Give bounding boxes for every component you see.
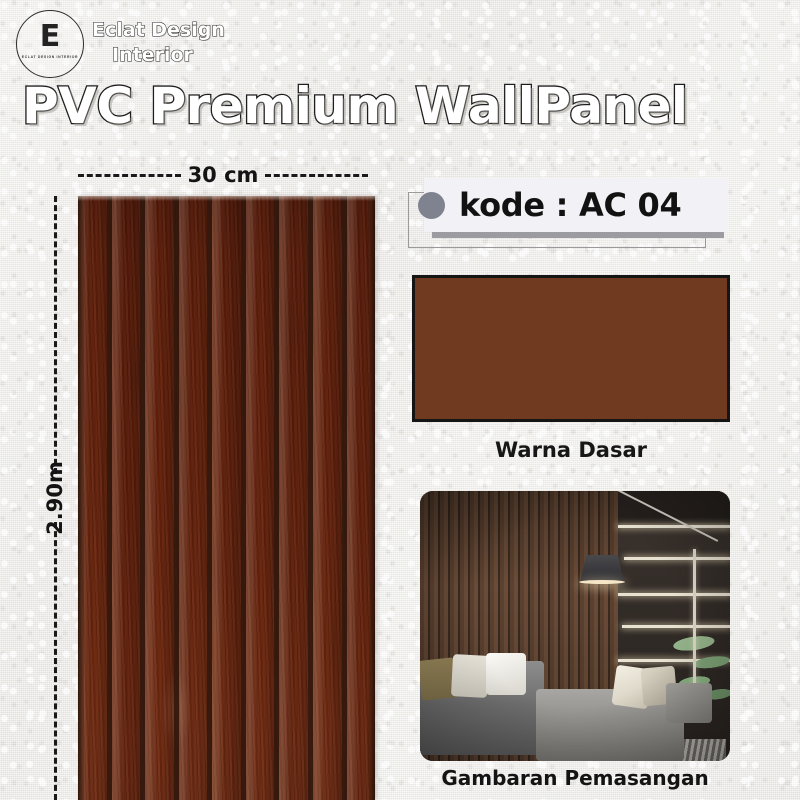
dimension-dash-left bbox=[78, 174, 181, 177]
base-color-swatch bbox=[412, 275, 730, 422]
brand-name-line2: Interior bbox=[112, 43, 225, 68]
product-code-label: kode : AC 04 bbox=[459, 186, 681, 224]
panel-slat bbox=[112, 196, 146, 800]
width-dimension: 30 cm bbox=[78, 160, 368, 190]
panel-right-edge bbox=[369, 196, 375, 800]
panel-slat bbox=[179, 196, 213, 800]
installation-preview-image bbox=[420, 491, 730, 761]
panel-slat bbox=[145, 196, 179, 800]
panel-slat bbox=[246, 196, 280, 800]
brand-name-line1: Eclat Design bbox=[92, 19, 225, 41]
brand-logo: E ECLAT DESIGN INTERIOR bbox=[16, 10, 84, 78]
panel-top-highlight bbox=[78, 196, 375, 201]
product-poster: E ECLAT DESIGN INTERIOR Eclat Design Int… bbox=[0, 0, 800, 800]
dimension-dash-top bbox=[54, 196, 57, 474]
bullet-dot-icon bbox=[418, 192, 445, 219]
dimension-dash-right bbox=[265, 174, 368, 177]
wall-panel-product-image bbox=[78, 196, 375, 800]
panel-left-edge bbox=[78, 196, 84, 800]
base-color-caption: Warna Dasar bbox=[412, 438, 730, 462]
width-dimension-label: 30 cm bbox=[188, 163, 259, 187]
height-dimension-label: 2.90m bbox=[37, 461, 73, 535]
panel-slats bbox=[78, 196, 375, 800]
logo-subtext: ECLAT DESIGN INTERIOR bbox=[18, 55, 83, 59]
dimension-dash-bottom bbox=[54, 522, 57, 800]
panel-slat bbox=[279, 196, 313, 800]
room-vignette bbox=[420, 491, 730, 761]
logo-letter: E bbox=[16, 22, 84, 52]
code-badge-box: kode : AC 04 bbox=[424, 178, 728, 232]
panel-slat bbox=[212, 196, 246, 800]
installation-caption: Gambaran Pemasangan bbox=[400, 766, 750, 790]
panel-slat bbox=[313, 196, 347, 800]
page-title: PVC Premium WallPanel bbox=[22, 78, 688, 134]
product-code-badge: kode : AC 04 bbox=[408, 178, 728, 250]
brand-name: Eclat Design Interior bbox=[92, 18, 225, 68]
height-dimension: 2.90m bbox=[40, 196, 70, 800]
